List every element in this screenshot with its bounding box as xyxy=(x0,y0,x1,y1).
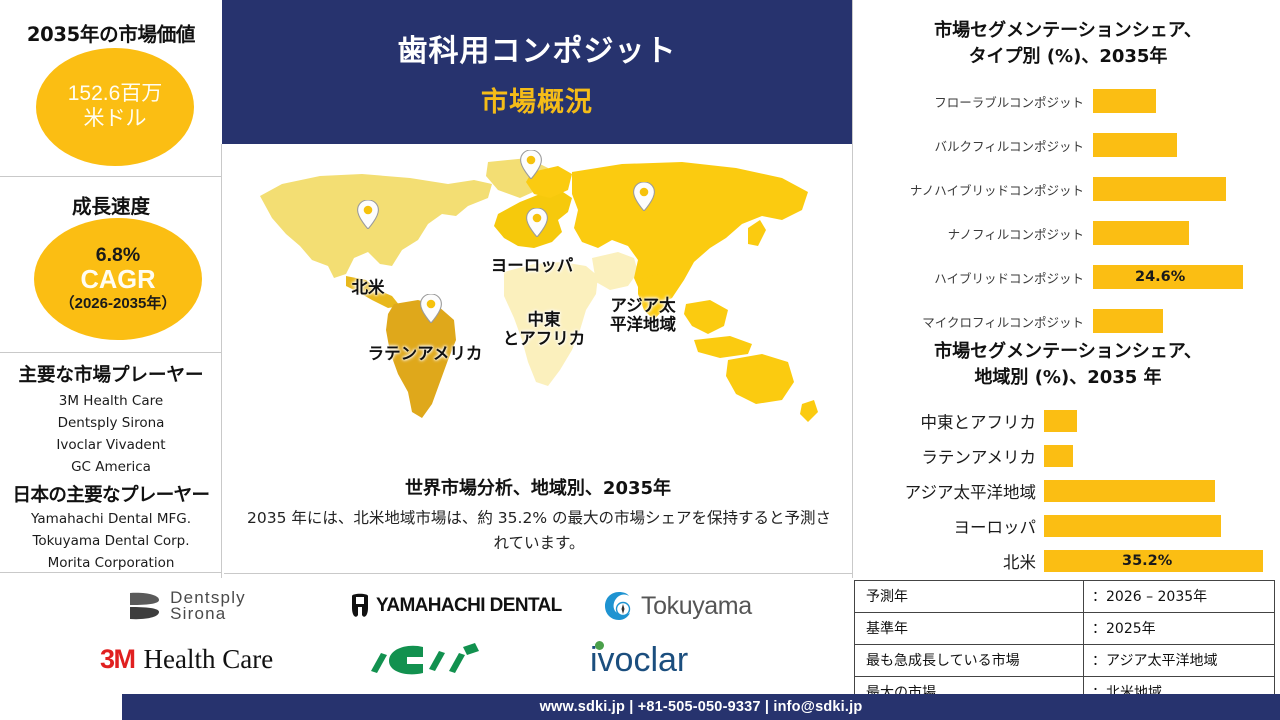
growth-rate-badge: 6.8% CAGR （2026-2035年） xyxy=(34,218,202,340)
table-cell-key: 予測年 xyxy=(855,581,1083,612)
divider xyxy=(224,573,852,574)
map-label-europe: ヨーロッパ xyxy=(462,256,602,275)
type-bar xyxy=(1093,89,1156,113)
table-row: 予測年 ：2026 – 2035年 xyxy=(854,580,1275,613)
market-value-badge: 152.6百万 米ドル xyxy=(36,48,194,166)
yamahachi-tooth-icon xyxy=(350,593,370,619)
logo-3m-mark: 3M xyxy=(100,644,135,675)
type-bar-label: ハイブリッドコンポジット xyxy=(884,268,1093,287)
type-chart-title: 市場セグメンテーションシェア、 タイプ別 (%)、2035年 xyxy=(856,18,1280,70)
map-label-north-america: 北米 xyxy=(328,278,408,297)
region-bar xyxy=(1044,480,1215,502)
logo-ivoclar: ivoclar xyxy=(590,639,800,681)
logo-yamahachi-text: YAMAHACHI DENTAL xyxy=(376,595,562,617)
divider xyxy=(221,144,222,578)
type-bar-row: ナノハイブリッドコンポジット xyxy=(884,171,1280,207)
table-cell-value: ：2026 – 2035年 xyxy=(1084,581,1276,612)
region-bar: 35.2% xyxy=(1044,550,1263,572)
report-subtitle: 市場概況 xyxy=(481,80,593,119)
region-bar-label: 北米 xyxy=(860,549,1044,573)
logo-dentsply-sirona: Dentsply Sirona xyxy=(96,585,276,627)
logo-3m-text: Health Care xyxy=(144,644,274,675)
table-cell-value: ：2025年 xyxy=(1084,613,1276,644)
region-bar-row: ラテンアメリカ xyxy=(860,438,1280,474)
table-cell-key: 最も急成長している市場 xyxy=(855,645,1083,676)
header-banner: 歯科用コンポジット 市場概況 xyxy=(222,0,852,144)
dentsply-mark-icon xyxy=(126,590,162,622)
region-bar xyxy=(1044,410,1077,432)
divider xyxy=(0,352,222,353)
table-row: 基準年 ：2025年 xyxy=(854,612,1275,645)
list-item: Morita Corporation xyxy=(0,552,222,574)
type-bar xyxy=(1093,133,1177,157)
logo-tokuyama: Tokuyama xyxy=(604,589,804,623)
infographic-page: 2035年の市場価値 152.6百万 米ドル 成長速度 6.8% CAGR （2… xyxy=(0,0,1280,720)
footer-contact: www.sdki.jp | +81-505-050-9337 | info@sd… xyxy=(540,699,863,715)
map-pin-icon xyxy=(420,294,442,323)
key-players-list: 3M Health Care Dentsply Sirona Ivoclar V… xyxy=(0,390,222,478)
map-label-latin-america: ラテンアメリカ xyxy=(330,344,520,363)
type-bar-row: バルクフィルコンポジット xyxy=(884,127,1280,163)
region-bar-row: 中東とアフリカ xyxy=(860,403,1280,439)
divider xyxy=(0,572,222,573)
region-chart-title-line1: 市場セグメンテーションシェア、 xyxy=(856,339,1280,365)
divider xyxy=(0,176,222,177)
map-label-asia-pacific: アジア太 平洋地域 xyxy=(584,296,702,334)
region-bar xyxy=(1044,515,1221,537)
region-shape-new-zealand xyxy=(800,400,818,422)
map-pin-icon xyxy=(357,200,379,229)
table-cell-value: ：アジア太平洋地域 xyxy=(1084,645,1276,676)
type-bar-label: ナノハイブリッドコンポジット xyxy=(884,180,1093,199)
type-bar: 24.6% xyxy=(1093,265,1243,289)
region-chart-title: 市場セグメンテーションシェア、 地域別 (%)、2035 年 xyxy=(856,339,1280,391)
region-bar-row: ヨーロッパ xyxy=(860,508,1280,544)
market-value-amount: 152.6百万 xyxy=(68,82,163,107)
type-bar-label: フローラブルコンポジット xyxy=(884,92,1093,111)
region-chart-title-line2: 地域別 (%)、2035 年 xyxy=(856,365,1280,391)
type-bar-row: フローラブルコンポジット xyxy=(884,83,1280,119)
japan-players-list: Yamahachi Dental MFG. Tokuyama Dental Co… xyxy=(0,508,222,574)
world-map: 北米 ヨーロッパ 中東 とアフリカ アジア太 平洋地域 ラテンアメリカ xyxy=(224,148,852,468)
type-chart-title-line2: タイプ別 (%)、2035年 xyxy=(856,44,1280,70)
map-caption: 世界市場分析、地域別、2035年 xyxy=(224,474,852,500)
report-title: 歯科用コンポジット xyxy=(398,26,677,70)
type-bar xyxy=(1093,221,1189,245)
list-item: Tokuyama Dental Corp. xyxy=(0,530,222,552)
tokuyama-mark-icon xyxy=(604,591,634,621)
list-item: 3M Health Care xyxy=(0,390,222,412)
region-bar-value: 35.2% xyxy=(1122,553,1172,569)
type-bar-row: ハイブリッドコンポジット 24.6% xyxy=(884,259,1280,295)
logo-3m-health-care: 3M Health Care xyxy=(100,639,290,679)
logo-tokuyama-text: Tokuyama xyxy=(641,592,752,621)
type-bar-row: マイクロフィルコンポジット xyxy=(884,303,1280,339)
type-bar-value: 24.6% xyxy=(1135,269,1185,285)
logo-strip: Dentsply Sirona YAMAHACHI DENTAL Tokuyam… xyxy=(0,579,851,692)
region-bar-row: アジア太平洋地域 xyxy=(860,473,1280,509)
logo-ivoclar-text: ivoclar xyxy=(590,641,688,680)
region-bar-row: 北米 35.2% xyxy=(860,543,1280,579)
type-bar xyxy=(1093,309,1163,333)
type-bar-label: バルクフィルコンポジット xyxy=(884,136,1093,155)
left-summary-column: 2035年の市場価値 152.6百万 米ドル 成長速度 6.8% CAGR （2… xyxy=(0,0,222,578)
region-bar xyxy=(1044,445,1073,467)
map-pin-icon xyxy=(526,208,548,237)
gc-mark-icon xyxy=(367,637,517,681)
list-item: Yamahachi Dental MFG. xyxy=(0,508,222,530)
region-bar-label: アジア太平洋地域 xyxy=(860,479,1044,503)
region-bar-label: 中東とアフリカ xyxy=(860,409,1044,433)
japan-players-heading: 日本の主要なプレーヤー xyxy=(0,481,222,507)
list-item: Dentsply Sirona xyxy=(0,412,222,434)
region-bar-label: ラテンアメリカ xyxy=(860,444,1044,468)
world-map-svg xyxy=(242,154,842,444)
logo-yamahachi-dental: YAMAHACHI DENTAL xyxy=(350,589,580,623)
cagr-percent: 6.8% xyxy=(96,245,140,266)
type-bar-row: ナノフィルコンポジット xyxy=(884,215,1280,251)
region-shape-indonesia xyxy=(694,336,752,358)
cagr-label: CAGR xyxy=(80,266,155,295)
divider xyxy=(852,0,853,578)
map-pin-icon xyxy=(633,182,655,211)
ivoclar-dot-icon xyxy=(595,641,604,650)
region-shape-australia xyxy=(726,354,794,404)
map-pin-icon xyxy=(520,150,542,179)
list-item: GC America xyxy=(0,456,222,478)
key-players-heading: 主要な市場プレーヤー xyxy=(0,361,222,387)
footer-bar: www.sdki.jp | +81-505-050-9337 | info@sd… xyxy=(122,694,1280,720)
list-item: Ivoclar Vivadent xyxy=(0,434,222,456)
type-bar-label: マイクロフィルコンポジット xyxy=(884,312,1093,331)
growth-rate-title: 成長速度 xyxy=(0,190,222,219)
type-bar xyxy=(1093,177,1226,201)
type-bar-label: ナノフィルコンポジット xyxy=(884,224,1093,243)
type-chart-title-line1: 市場セグメンテーションシェア、 xyxy=(856,18,1280,44)
logo-dentsply-line2: Sirona xyxy=(170,606,246,622)
table-cell-key: 基準年 xyxy=(855,613,1083,644)
map-subtext: 2035 年には、北米地域市場は、約 35.2% の最大の市場シェアを保持すると… xyxy=(244,506,834,556)
summary-table: 予測年 ：2026 – 2035年 基準年 ：2025年 最も急成長している市場… xyxy=(854,580,1275,710)
region-bar-label: ヨーロッパ xyxy=(860,514,1044,538)
region-shape-japan xyxy=(748,220,766,246)
market-value-currency: 米ドル xyxy=(84,107,147,132)
cagr-period: （2026-2035年） xyxy=(60,295,177,313)
logo-gc xyxy=(352,637,532,681)
table-row: 最も急成長している市場 ：アジア太平洋地域 xyxy=(854,644,1275,677)
market-value-title: 2035年の市場価値 xyxy=(0,18,222,47)
